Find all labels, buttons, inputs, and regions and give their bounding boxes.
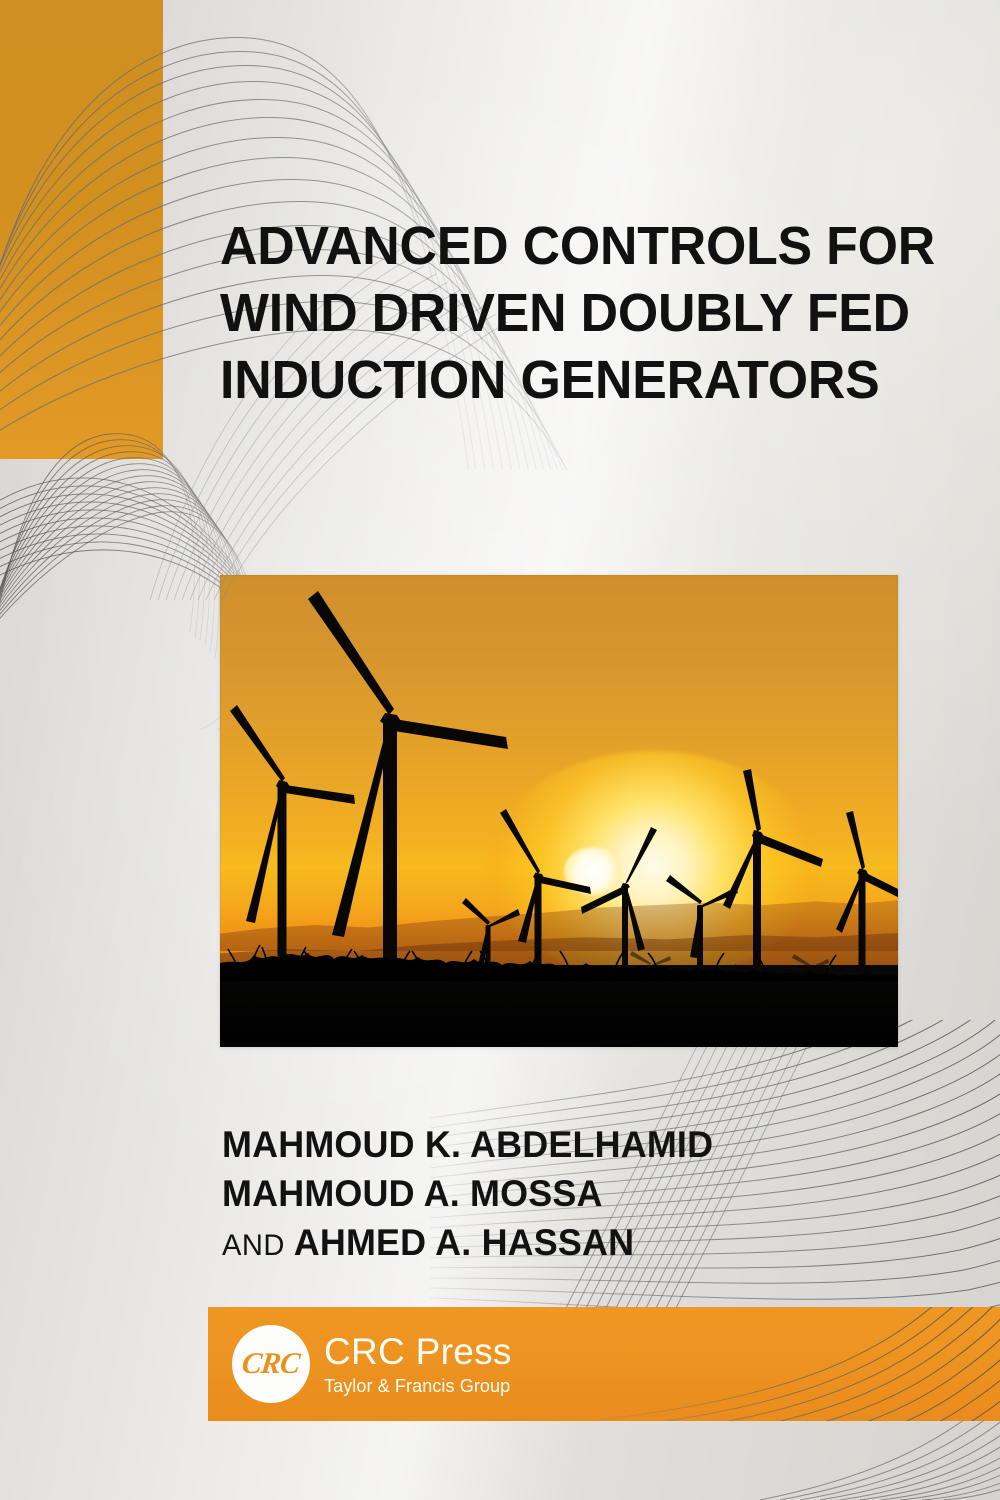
crc-badge-icon: CRC <box>232 1325 310 1403</box>
book-cover: ADVANCED CONTROLS FOR WIND DRIVEN DOUBLY… <box>0 0 1000 1500</box>
title-line-3: INDUCTION GENERATORS <box>220 347 904 414</box>
book-title: ADVANCED CONTROLS FOR WIND DRIVEN DOUBLY… <box>220 213 904 414</box>
publisher-imprint: Taylor & Francis Group <box>324 1377 512 1395</box>
title-line-2: WIND DRIVEN DOUBLY FED <box>220 280 904 347</box>
author-2: MAHMOUD A. MOSSA <box>222 1169 823 1218</box>
author-conjunction: AND <box>222 1229 285 1262</box>
author-3-name: AHMED A. HASSAN <box>294 1222 635 1263</box>
crc-badge-text: CRC <box>241 1347 302 1381</box>
author-3: AND AHMED A. HASSAN <box>222 1218 823 1270</box>
publisher-name-block: CRC Press Taylor & Francis Group <box>324 1333 512 1395</box>
title-line-1: ADVANCED CONTROLS FOR <box>220 213 904 280</box>
publisher-logo: CRC CRC Press Taylor & Francis Group <box>232 1317 512 1411</box>
cover-photo-wind-farm <box>220 575 898 1047</box>
publisher-name: CRC Press <box>324 1333 512 1370</box>
orange-accent-panel <box>0 0 163 459</box>
photo-border <box>220 575 898 1047</box>
author-1: MAHMOUD K. ABDELHAMID <box>222 1120 823 1169</box>
author-list: MAHMOUD K. ABDELHAMID MAHMOUD A. MOSSA A… <box>222 1120 823 1270</box>
